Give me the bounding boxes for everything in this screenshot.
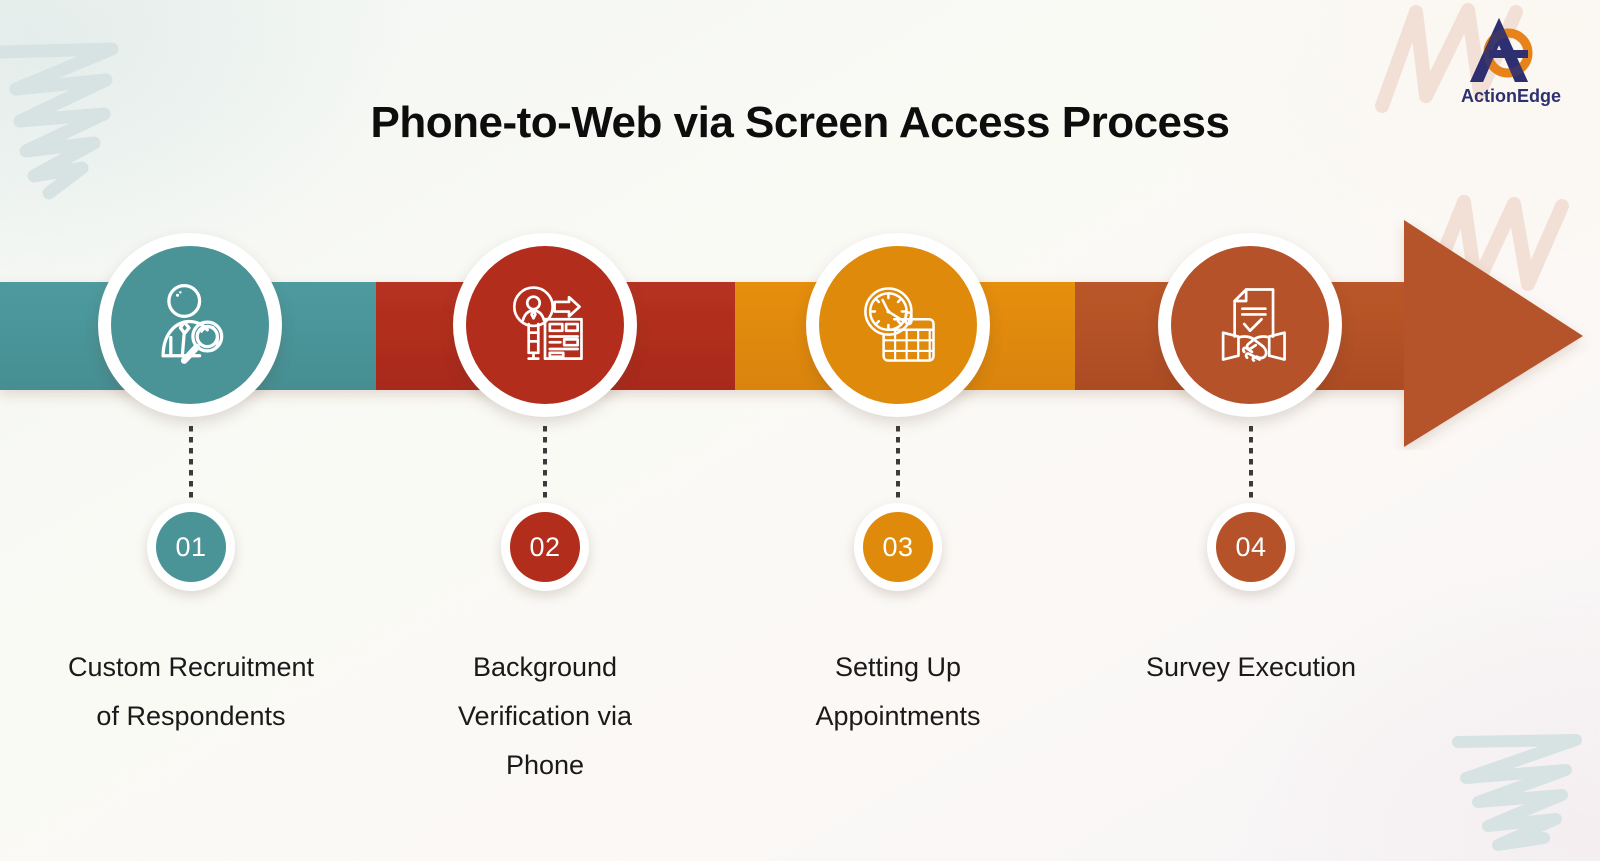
step-disc-2-inner [466,246,624,404]
step-caption-4: Survey Execution [1126,643,1376,692]
scribble-decoration-bottom-right [1398,698,1600,861]
page-title: Phone-to-Web via Screen Access Process [0,98,1600,148]
step-caption-3: Setting Up Appointments [773,643,1023,741]
step-badge-4-circle: 04 [1216,512,1286,582]
person-magnifier-icon [142,277,238,373]
step-badge-3[interactable]: 03 [854,503,942,591]
magnifier-profile-document-icon [497,277,593,373]
step-badge-2-number: 02 [529,532,560,563]
step-disc-3-inner [819,246,977,404]
connector-line-1 [189,426,193,500]
step-disc-4-inner [1171,246,1329,404]
step-badge-4[interactable]: 04 [1207,503,1295,591]
clock-calendar-icon [850,277,946,373]
step-caption-1: Custom Recruitment of Respondents [66,643,316,741]
step-badge-1[interactable]: 01 [147,503,235,591]
step-badge-3-circle: 03 [863,512,933,582]
step-badge-3-number: 03 [882,532,913,563]
connector-line-3 [896,426,900,500]
step-caption-2: Background Verification via Phone [420,643,670,790]
step-disc-1-inner [111,246,269,404]
step-disc-1[interactable] [98,233,282,417]
arrow-head-fill [1404,282,1450,390]
connector-line-4 [1249,426,1253,500]
logo-mark [1470,18,1528,82]
handshake-document-check-icon [1202,277,1298,373]
step-badge-4-number: 04 [1235,532,1266,563]
step-badge-2[interactable]: 02 [501,503,589,591]
step-disc-2[interactable] [453,233,637,417]
step-badge-1-number: 01 [175,532,206,563]
step-badge-2-circle: 02 [510,512,580,582]
step-disc-3[interactable] [806,233,990,417]
step-badge-1-circle: 01 [156,512,226,582]
actionedge-logo: ActionEdge [1452,12,1570,108]
connector-line-2 [543,426,547,500]
step-disc-4[interactable] [1158,233,1342,417]
